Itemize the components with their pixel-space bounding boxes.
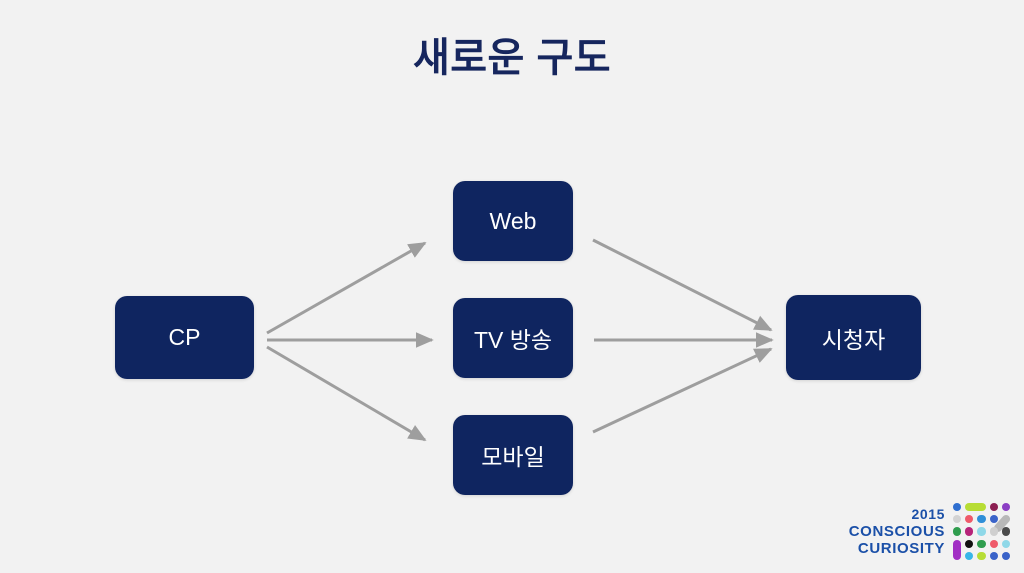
node-cp[interactable]: CP — [115, 296, 254, 379]
logo-dot — [990, 503, 998, 511]
logo-line-curiosity: CURIOSITY — [849, 540, 945, 557]
logo-dot — [965, 540, 973, 548]
logo-dot — [953, 503, 961, 511]
node-web[interactable]: Web — [453, 181, 573, 261]
logo-dot — [965, 515, 973, 523]
logo-line-conscious: CONSCIOUS — [849, 523, 945, 540]
logo-dot — [977, 552, 985, 560]
presentation-slide: 새로운 구도 CP Web TV 방송 모바일 시청자 — [0, 0, 1024, 573]
logo-dot — [977, 540, 985, 548]
logo-dot — [953, 515, 961, 523]
logo-dot — [965, 503, 985, 511]
conscious-curiosity-logo: 2015 CONSCIOUS CURIOSITY — [820, 500, 1016, 562]
logo-dot — [1002, 552, 1010, 560]
node-viewer-label: 시청자 — [822, 321, 885, 355]
logo-dot — [977, 527, 985, 535]
logo-year: 2015 — [849, 506, 945, 523]
edge-web-viewer — [593, 240, 771, 330]
edge-cp-mobile — [267, 347, 425, 440]
logo-dot-grid-icon — [952, 502, 1016, 560]
logo-dot — [990, 527, 998, 535]
logo-dot — [1002, 527, 1010, 535]
logo-dot — [965, 527, 973, 535]
logo-dot — [953, 527, 961, 535]
logo-dot — [965, 552, 973, 560]
logo-dot — [990, 540, 998, 548]
logo-dot — [1002, 540, 1010, 548]
node-mobile-label: 모바일 — [481, 438, 544, 472]
edge-mobile-viewer — [593, 349, 771, 432]
node-web-label: Web — [490, 208, 537, 235]
node-tv-broadcast[interactable]: TV 방송 — [453, 298, 573, 378]
node-cp-label: CP — [169, 324, 201, 351]
logo-dot — [977, 515, 985, 523]
logo-text: 2015 CONSCIOUS CURIOSITY — [849, 506, 952, 557]
logo-dot — [953, 540, 961, 560]
node-viewer[interactable]: 시청자 — [786, 295, 921, 380]
logo-dot — [1002, 503, 1010, 511]
logo-dot — [990, 552, 998, 560]
node-tv-broadcast-label: TV 방송 — [474, 321, 552, 355]
edge-cp-web — [267, 243, 425, 333]
node-mobile[interactable]: 모바일 — [453, 415, 573, 495]
